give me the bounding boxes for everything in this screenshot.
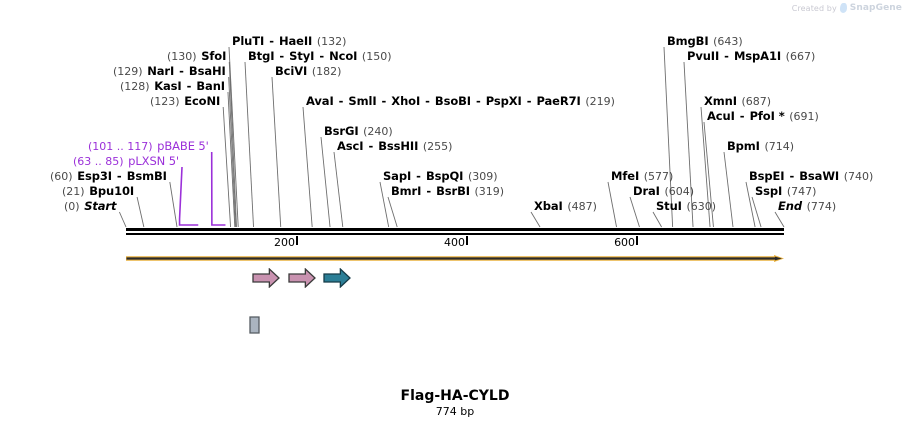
orf-arrow[interactable]: [126, 255, 784, 262]
feature-shape-attb1: [323, 268, 351, 288]
feature-shape-kozak: [249, 316, 260, 334]
ruler-tick-mark-600: [636, 236, 638, 245]
feature-attb1[interactable]: [323, 268, 351, 292]
feature-ha[interactable]: [288, 268, 316, 292]
ruler-tick-label-600: 600: [614, 236, 635, 249]
ruler-tick-label-200: 200: [274, 236, 295, 249]
ruler-tick-label-400: 400: [444, 236, 465, 249]
page-subtitle: 774 bp: [0, 405, 910, 418]
ruler-line-upper: [126, 228, 784, 231]
feature-shape-ha: [288, 268, 316, 288]
page-title: Flag-HA-CYLD: [0, 388, 910, 404]
plasmid-map-canvas: Created by SnapGene (0) Start(21) Bpu10I…: [0, 0, 910, 428]
ruler-line-lower: [126, 233, 784, 235]
ruler-tick-mark-200: [296, 236, 298, 245]
ruler-tick-mark-400: [466, 236, 468, 245]
feature-shape-flag: [252, 268, 280, 288]
sequence-ruler: 200400600: [0, 0, 910, 250]
feature-kozak[interactable]: [249, 316, 260, 338]
feature-flag[interactable]: [252, 268, 280, 292]
